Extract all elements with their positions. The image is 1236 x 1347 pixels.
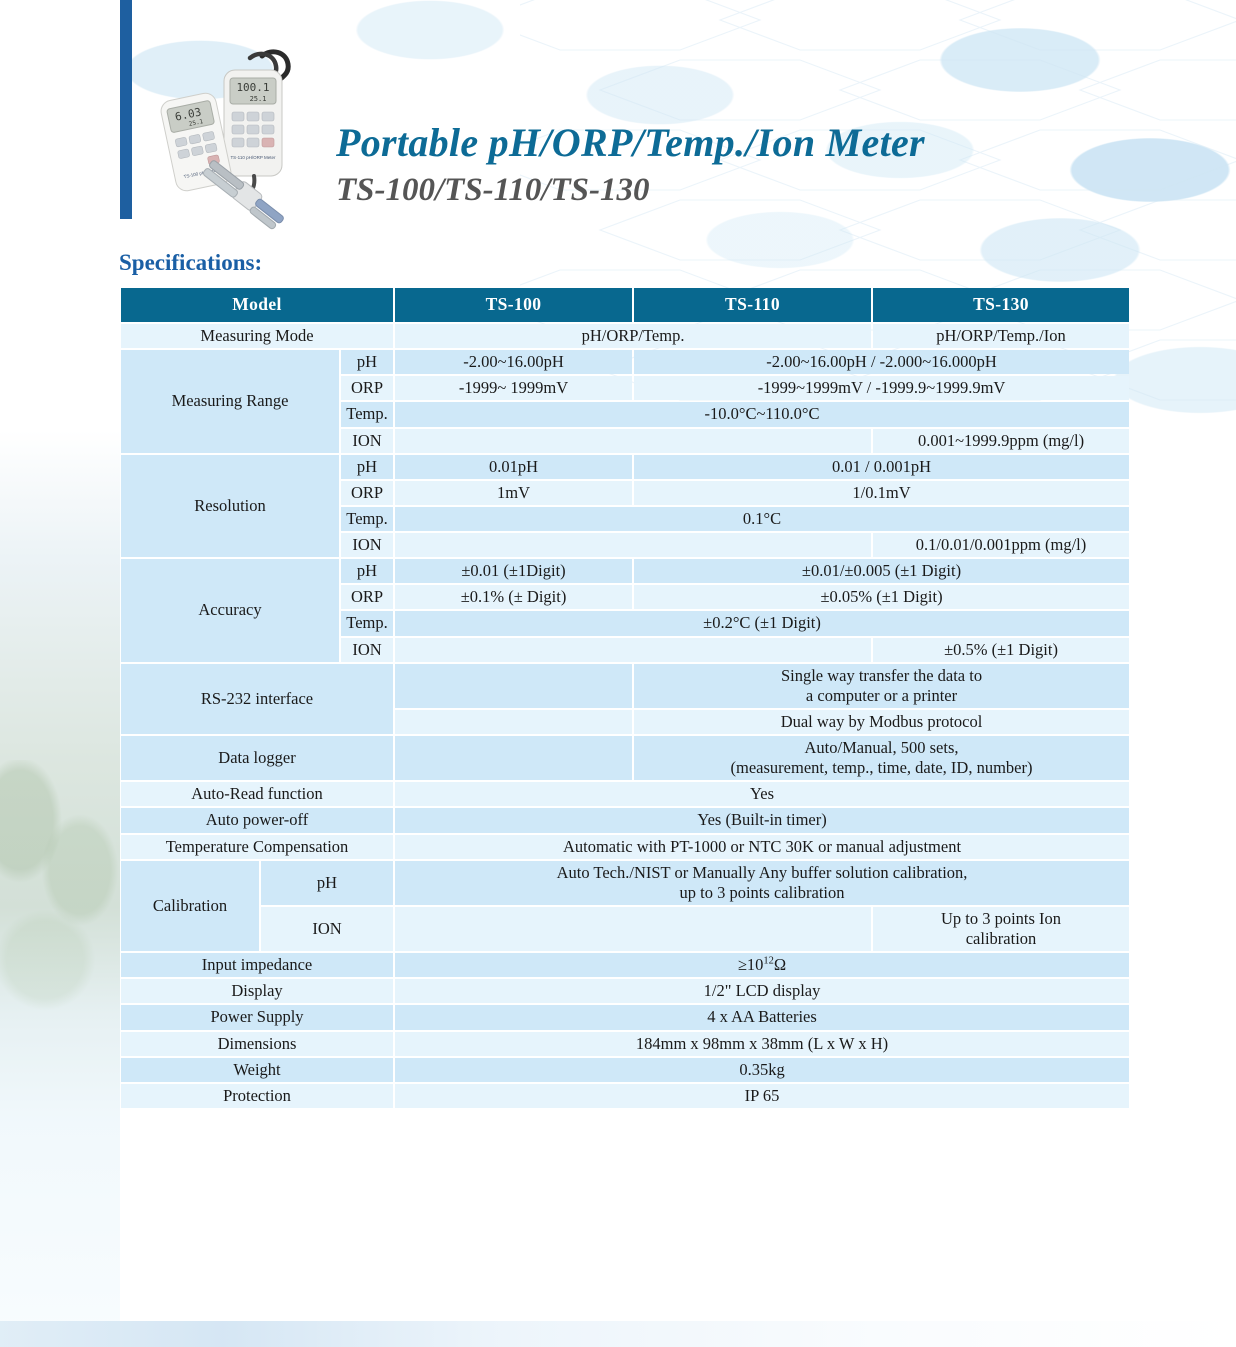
value-cell: pH/ORP/Temp./Ion xyxy=(873,324,1129,348)
row-sublabel-ph: pH xyxy=(341,559,393,583)
table-row: Auto power-offYes (Built-in timer) xyxy=(121,808,1129,832)
table-row: Data loggerAuto/Manual, 500 sets,(measur… xyxy=(121,736,1129,780)
svg-text:100.1: 100.1 xyxy=(236,81,269,94)
row-sublabel-temp.: Temp. xyxy=(341,611,393,635)
value-cell: -2.00~16.00pH xyxy=(395,350,632,374)
value-cell: Dual way by Modbus protocol xyxy=(634,710,1129,734)
row-label-rs-232-interface: RS-232 interface xyxy=(121,664,393,734)
table-row: RS-232 interfaceSingle way transfer the … xyxy=(121,664,1129,708)
table-row: Dimensions184mm x 98mm x 38mm (L x W x H… xyxy=(121,1032,1129,1056)
row-label-auto-power-off: Auto power-off xyxy=(121,808,393,832)
row-label-power-supply: Power Supply xyxy=(121,1005,393,1029)
table-row: ProtectionIP 65 xyxy=(121,1084,1129,1108)
row-label-data-logger: Data logger xyxy=(121,736,393,780)
value-cell: 0.35kg xyxy=(395,1058,1129,1082)
accent-vertical-bar xyxy=(120,0,132,219)
value-cell: 0.1°C xyxy=(395,507,1129,531)
value-cell: Yes (Built-in timer) xyxy=(395,808,1129,832)
value-cell: 184mm x 98mm x 38mm (L x W x H) xyxy=(395,1032,1129,1056)
table-row: Measuring RangepH-2.00~16.00pH-2.00~16.0… xyxy=(121,350,1129,374)
row-sublabel-ion: ION xyxy=(341,533,393,557)
value-cell: ±0.01 (±1Digit) xyxy=(395,559,632,583)
specifications-table: ModelTS-100TS-110TS-130Measuring ModepH/… xyxy=(119,286,1131,1110)
table-row: ResolutionpH0.01pH0.01 / 0.001pH xyxy=(121,455,1129,479)
empty-cell xyxy=(395,638,871,662)
row-label-protection: Protection xyxy=(121,1084,393,1108)
row-sublabel-ion: ION xyxy=(261,907,393,951)
row-sublabel-ph: pH xyxy=(261,861,393,905)
svg-text:25.1: 25.1 xyxy=(250,95,267,103)
value-cell: pH/ORP/Temp. xyxy=(395,324,871,348)
value-cell: Up to 3 points Ioncalibration xyxy=(873,907,1129,951)
value-cell: ±0.01/±0.005 (±1 Digit) xyxy=(634,559,1129,583)
svg-text:TS-110 pH/ORP Meter: TS-110 pH/ORP Meter xyxy=(230,155,276,160)
row-label-measuring-range: Measuring Range xyxy=(121,350,339,453)
value-cell: Yes xyxy=(395,782,1129,806)
value-cell: 0.01pH xyxy=(395,455,632,479)
value-cell: ±0.2°C (±1 Digit) xyxy=(395,611,1129,635)
column-header-model: Model xyxy=(121,288,393,322)
value-cell: ±0.05% (±1 Digit) xyxy=(634,585,1129,609)
page-title: Portable pH/ORP/Temp./Ion Meter xyxy=(336,122,925,164)
row-label-dimensions: Dimensions xyxy=(121,1032,393,1056)
row-label-auto-read-function: Auto-Read function xyxy=(121,782,393,806)
row-label-temperature-compensation: Temperature Compensation xyxy=(121,835,393,859)
table-row: Weight0.35kg xyxy=(121,1058,1129,1082)
empty-cell xyxy=(395,907,871,951)
product-photo-meters-icon: 100.1 25.1 TS-110 pH/ORP Meter 6.03 25.1… xyxy=(146,38,326,238)
value-cell: 1/0.1mV xyxy=(634,481,1129,505)
value-cell: -1999~1999mV / -1999.9~1999.9mV xyxy=(634,376,1129,400)
row-label-resolution: Resolution xyxy=(121,455,339,558)
column-header-ts-100: TS-100 xyxy=(395,288,632,322)
table-row: Measuring ModepH/ORP/Temp.pH/ORP/Temp./I… xyxy=(121,324,1129,348)
table-row: Input impedance≥1012Ω xyxy=(121,953,1129,977)
specifications-heading: Specifications: xyxy=(119,250,262,276)
row-label-accuracy: Accuracy xyxy=(121,559,339,662)
table-row: CalibrationpHAuto Tech./NIST or Manually… xyxy=(121,861,1129,905)
value-cell: Auto/Manual, 500 sets,(measurement, temp… xyxy=(634,736,1129,780)
empty-cell xyxy=(395,736,632,780)
row-sublabel-orp: ORP xyxy=(341,376,393,400)
empty-cell xyxy=(395,533,871,557)
table-row: AccuracypH±0.01 (±1Digit)±0.01/±0.005 (±… xyxy=(121,559,1129,583)
empty-cell xyxy=(395,664,632,708)
title-block: Portable pH/ORP/Temp./Ion Meter TS-100/T… xyxy=(336,122,925,208)
column-header-ts-110: TS-110 xyxy=(634,288,871,322)
table-row: Display1/2" LCD display xyxy=(121,979,1129,1003)
specifications-table-body: ModelTS-100TS-110TS-130Measuring ModepH/… xyxy=(121,288,1129,1108)
row-sublabel-ph: pH xyxy=(341,455,393,479)
row-sublabel-temp.: Temp. xyxy=(341,507,393,531)
value-cell: ±0.5% (±1 Digit) xyxy=(873,638,1129,662)
row-sublabel-ion: ION xyxy=(341,638,393,662)
value-cell: 4 x AA Batteries xyxy=(395,1005,1129,1029)
value-cell: 1mV xyxy=(395,481,632,505)
value-cell: -1999~ 1999mV xyxy=(395,376,632,400)
value-cell: Single way transfer the data toa compute… xyxy=(634,664,1129,708)
waterfall-background-photo xyxy=(0,430,120,1347)
empty-cell xyxy=(395,710,632,734)
row-sublabel-ph: pH xyxy=(341,350,393,374)
table-row: IONUp to 3 points Ioncalibration xyxy=(121,907,1129,951)
value-cell: ≥1012Ω xyxy=(395,953,1129,977)
value-cell: -2.00~16.00pH / -2.000~16.000pH xyxy=(634,350,1129,374)
value-cell: Auto Tech./NIST or Manually Any buffer s… xyxy=(395,861,1129,905)
row-label-weight: Weight xyxy=(121,1058,393,1082)
value-cell: 1/2" LCD display xyxy=(395,979,1129,1003)
value-cell: IP 65 xyxy=(395,1084,1129,1108)
value-cell: 0.1/0.01/0.001ppm (mg/l) xyxy=(873,533,1129,557)
row-label-input-impedance: Input impedance xyxy=(121,953,393,977)
row-sublabel-ion: ION xyxy=(341,429,393,453)
table-header-row: ModelTS-100TS-110TS-130 xyxy=(121,288,1129,322)
value-cell: ±0.1% (± Digit) xyxy=(395,585,632,609)
page-subtitle-models: TS-100/TS-110/TS-130 xyxy=(336,172,925,208)
row-sublabel-temp.: Temp. xyxy=(341,402,393,426)
bottom-gradient-band xyxy=(0,1321,1236,1347)
row-label-display: Display xyxy=(121,979,393,1003)
value-cell: 0.001~1999.9ppm (mg/l) xyxy=(873,429,1129,453)
value-cell: 0.01 / 0.001pH xyxy=(634,455,1129,479)
table-row: Power Supply4 x AA Batteries xyxy=(121,1005,1129,1029)
empty-cell xyxy=(395,429,871,453)
row-label-measuring-mode: Measuring Mode xyxy=(121,324,393,348)
value-cell: Automatic with PT-1000 or NTC 30K or man… xyxy=(395,835,1129,859)
row-sublabel-orp: ORP xyxy=(341,585,393,609)
value-cell: -10.0°C~110.0°C xyxy=(395,402,1129,426)
table-row: Auto-Read functionYes xyxy=(121,782,1129,806)
row-label-calibration: Calibration xyxy=(121,861,259,952)
row-sublabel-orp: ORP xyxy=(341,481,393,505)
table-row: Temperature CompensationAutomatic with P… xyxy=(121,835,1129,859)
column-header-ts-130: TS-130 xyxy=(873,288,1129,322)
